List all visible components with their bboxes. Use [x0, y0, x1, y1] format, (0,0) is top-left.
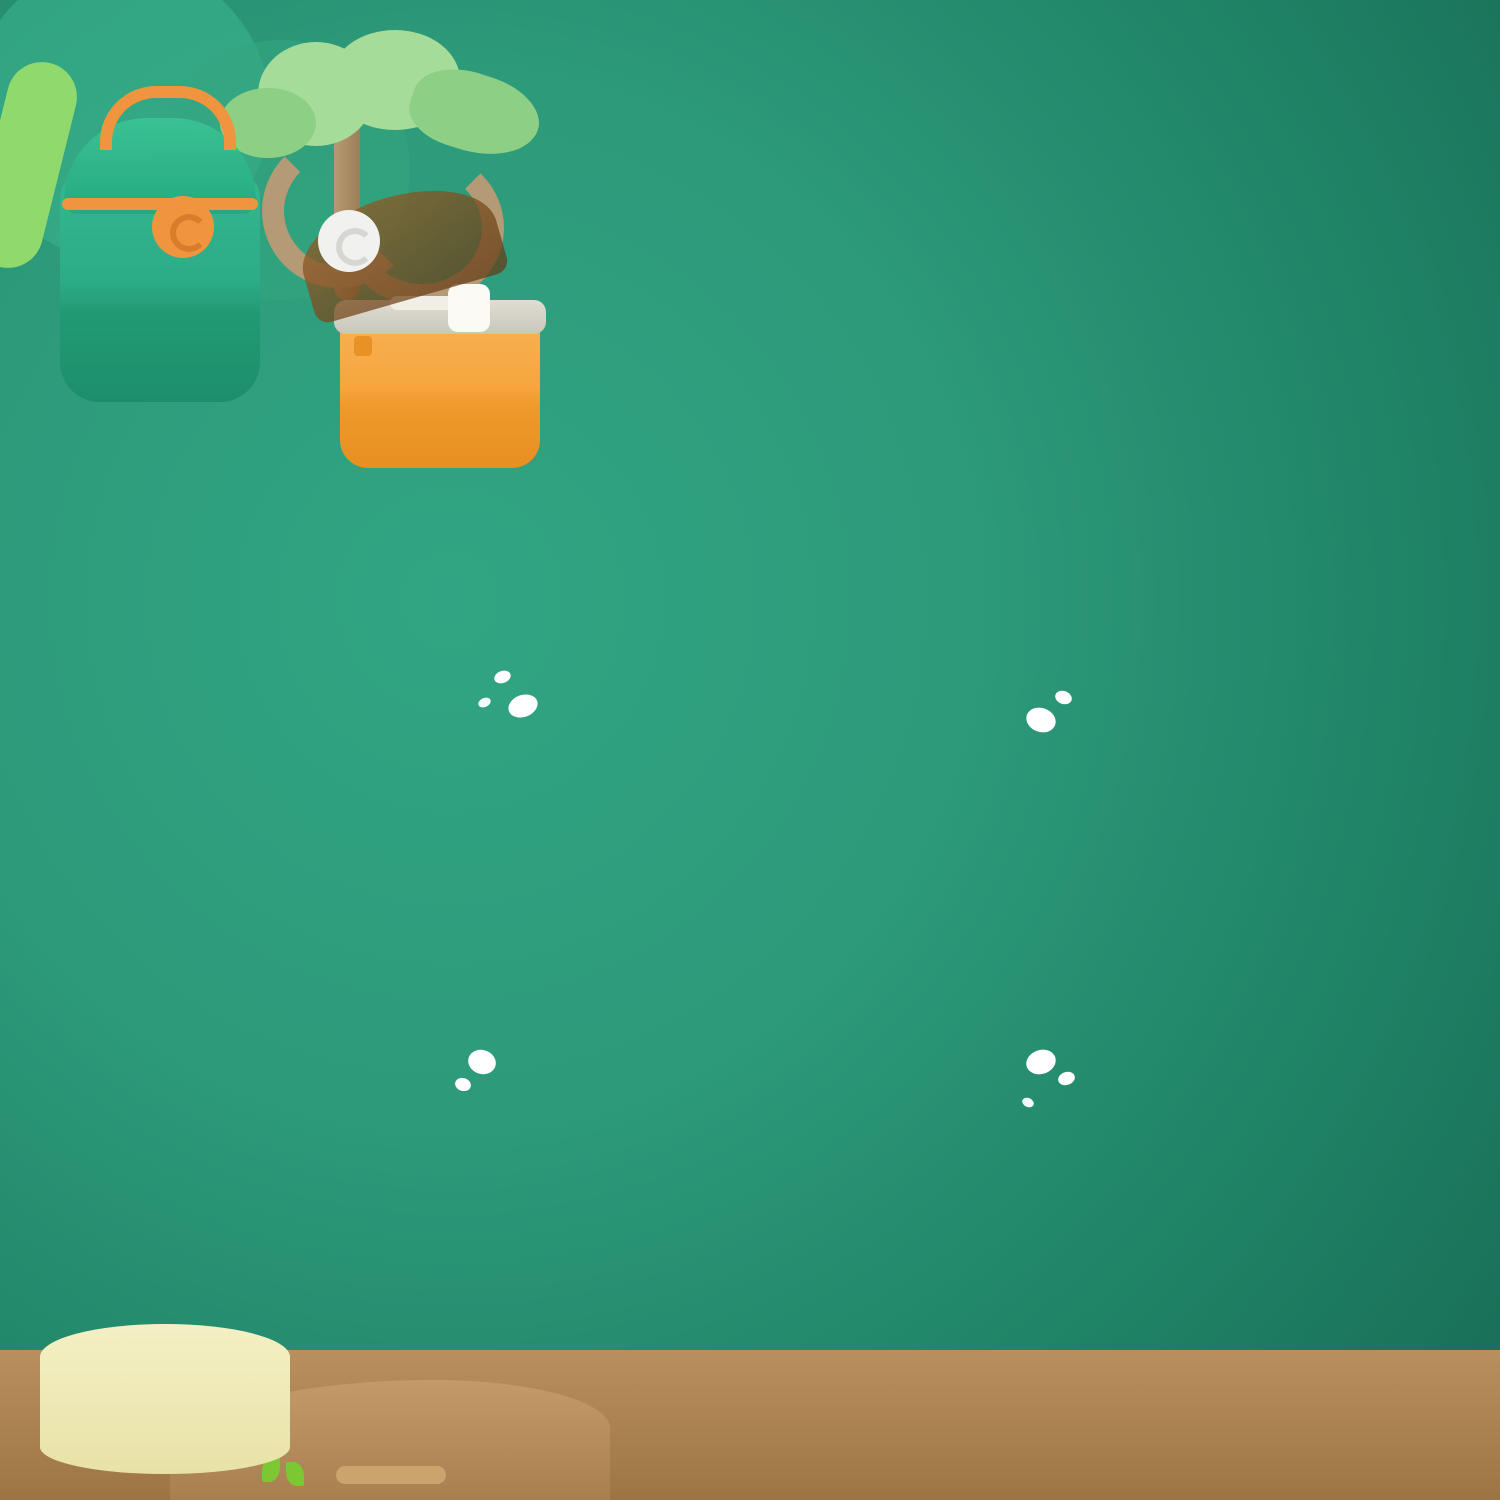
snail-spiral — [336, 228, 374, 266]
infographic-stage: Product Usage Traveling Formula Dispense… — [0, 0, 1500, 1500]
photo-center-hero — [0, 0, 600, 500]
container-clasp — [354, 336, 372, 356]
snail-spiral — [170, 214, 208, 252]
inner-white-cup — [448, 284, 490, 332]
